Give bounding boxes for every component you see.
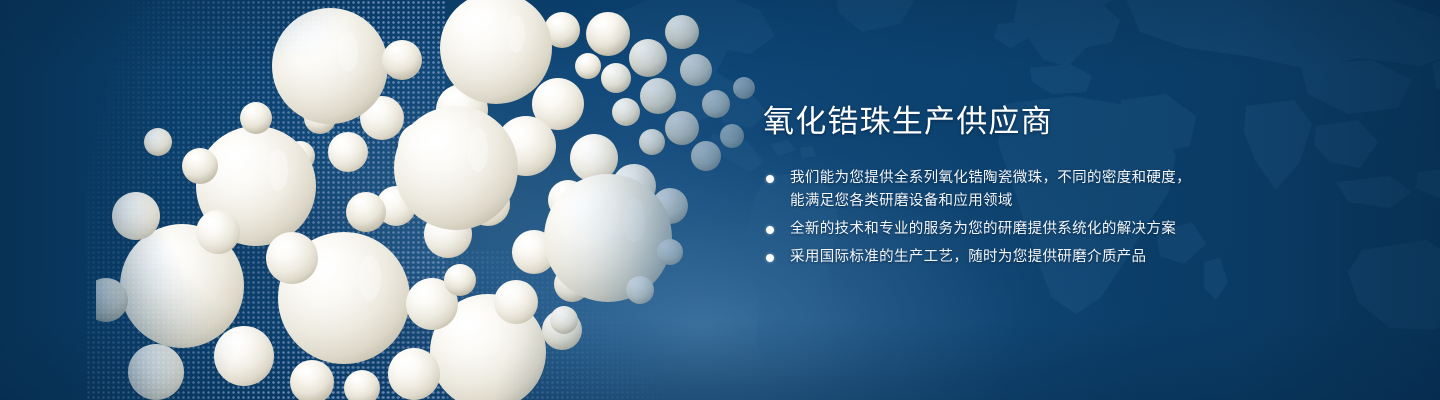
banner-headline: 氧化锆珠生产供应商 (763, 106, 1363, 137)
feature-bullet-item: 采用国际标准的生产工艺，随时为您提供研磨介质产品 (763, 246, 1363, 269)
feature-bullet-item: 我们能为您提供全系列氧化锆陶瓷微珠，不同的密度和硬度， 能满足您各类研磨设备和应… (763, 167, 1363, 213)
bullet-dot-icon (766, 254, 774, 262)
feature-bullet-item: 全新的技术和专业的服务为您的研磨提供系统化的解决方案 (763, 218, 1363, 241)
banner-text-block: 氧化锆珠生产供应商 我们能为您提供全系列氧化锆陶瓷微珠，不同的密度和硬度， 能满… (763, 106, 1363, 269)
bullet-text-line: 能满足您各类研磨设备和应用领域 (790, 190, 1363, 213)
bullet-dot-icon (766, 175, 774, 183)
bullet-text-line: 采用国际标准的生产工艺，随时为您提供研磨介质产品 (790, 246, 1363, 269)
bullet-text-line: 我们能为您提供全系列氧化锆陶瓷微珠，不同的密度和硬度， (790, 167, 1363, 190)
zirconia-beads-photo (96, 0, 816, 400)
bullet-dot-icon (766, 226, 774, 234)
feature-bullet-list: 我们能为您提供全系列氧化锆陶瓷微珠，不同的密度和硬度， 能满足您各类研磨设备和应… (763, 167, 1363, 269)
bullet-text-line: 全新的技术和专业的服务为您的研磨提供系统化的解决方案 (790, 218, 1363, 241)
hero-banner: 氧化锆珠生产供应商 我们能为您提供全系列氧化锆陶瓷微珠，不同的密度和硬度， 能满… (0, 0, 1440, 400)
